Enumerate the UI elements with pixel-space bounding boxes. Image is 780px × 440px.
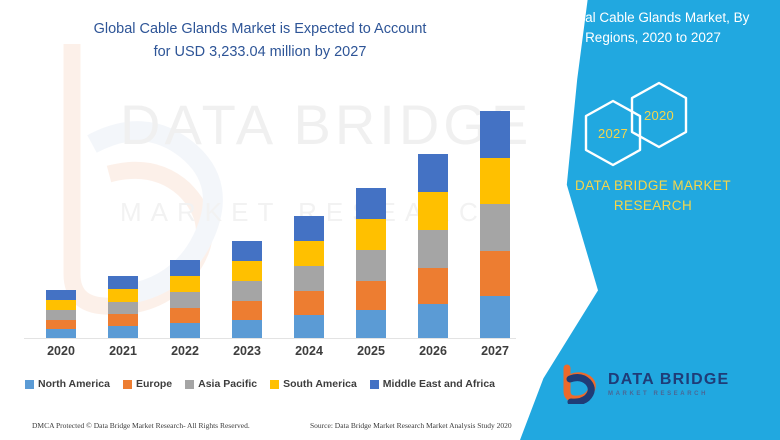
bar-segment-south-america[interactable] [356, 219, 386, 250]
bar-segment-south-america[interactable] [294, 241, 324, 266]
x-axis-labels: 20202021202220232024202520262027 [28, 344, 528, 364]
bar-segment-asia-pacific[interactable] [356, 250, 386, 281]
bar-segment-europe[interactable] [46, 320, 76, 329]
bar-segment-europe[interactable] [480, 251, 510, 296]
bar-group [28, 90, 528, 338]
bar-segment-europe[interactable] [170, 308, 200, 323]
bar-segment-europe[interactable] [232, 301, 262, 320]
bar-segment-asia-pacific[interactable] [46, 310, 76, 320]
legend-swatch-icon [270, 380, 279, 389]
bar-segment-asia-pacific[interactable] [294, 266, 324, 291]
x-axis-label-2024: 2024 [281, 344, 337, 358]
bar-segment-north-america[interactable] [170, 323, 200, 338]
bar-2022[interactable] [170, 260, 200, 338]
bar-segment-south-america[interactable] [108, 289, 138, 302]
hexagon-badge-2027: 2027 [582, 98, 644, 168]
legend-label: Middle East and Africa [383, 378, 495, 390]
bar-segment-asia-pacific[interactable] [480, 204, 510, 251]
bar-segment-europe[interactable] [356, 281, 386, 310]
legend-item-asia-pacific[interactable]: Asia Pacific [185, 378, 257, 390]
logo-text-line1: DATA BRIDGE [608, 372, 729, 388]
panel-title: Global Cable Glands Market, By Regions, … [536, 8, 770, 47]
bar-segment-south-america[interactable] [46, 300, 76, 310]
bar-segment-north-america[interactable] [356, 310, 386, 338]
footer-copyright: DMCA Protected © Data Bridge Market Rese… [32, 421, 250, 430]
bar-segment-middle-east-and-africa[interactable] [46, 290, 76, 300]
bar-segment-north-america[interactable] [232, 320, 262, 338]
bar-2024[interactable] [294, 216, 324, 338]
x-axis-label-2026: 2026 [405, 344, 461, 358]
bar-segment-middle-east-and-africa[interactable] [356, 188, 386, 219]
bar-segment-europe[interactable] [418, 268, 448, 304]
logo-mark-icon [558, 364, 600, 404]
x-axis-label-2027: 2027 [467, 344, 523, 358]
footer-source: Source: Data Bridge Market Research Mark… [310, 421, 512, 430]
x-axis-label-2022: 2022 [157, 344, 213, 358]
x-axis-label-2021: 2021 [95, 344, 151, 358]
logo-text: DATA BRIDGE MARKET RESEARCH [608, 372, 729, 397]
bar-segment-asia-pacific[interactable] [170, 292, 200, 308]
bar-segment-north-america[interactable] [418, 304, 448, 338]
hexagon-badges: 2020 2027 [566, 86, 736, 168]
page-title: Global Cable Glands Market is Expected t… [20, 18, 500, 64]
bar-segment-europe[interactable] [294, 291, 324, 315]
legend-item-north-america[interactable]: North America [25, 378, 110, 390]
bar-segment-middle-east-and-africa[interactable] [170, 260, 200, 276]
axis-baseline [24, 338, 516, 339]
bar-segment-south-america[interactable] [480, 158, 510, 204]
legend-swatch-icon [185, 380, 194, 389]
bar-segment-europe[interactable] [108, 314, 138, 326]
bar-2020[interactable] [46, 290, 76, 338]
legend-label: North America [38, 378, 110, 390]
legend-label: South America [283, 378, 357, 390]
page-title-line2: for USD 3,233.04 million by 2027 [154, 44, 367, 60]
bar-2026[interactable] [418, 154, 448, 338]
x-axis-label-2023: 2023 [219, 344, 275, 358]
bar-segment-asia-pacific[interactable] [232, 281, 262, 301]
bar-segment-south-america[interactable] [418, 192, 448, 230]
logo-text-line2: MARKET RESEARCH [608, 391, 729, 397]
infographic-root: DATA BRIDGE MARKET RESEARCH Global Cable… [0, 0, 780, 440]
legend-label: Europe [136, 378, 172, 390]
panel-title-line2: Regions, 2020 to 2027 [585, 30, 721, 45]
legend-swatch-icon [370, 380, 379, 389]
bar-segment-north-america[interactable] [294, 315, 324, 338]
panel-title-line1: Global Cable Glands Market, By [557, 10, 750, 25]
hexagon-badge-2027-label: 2027 [582, 98, 644, 168]
bar-segment-middle-east-and-africa[interactable] [108, 276, 138, 289]
bar-segment-north-america[interactable] [108, 326, 138, 338]
x-axis-label-2020: 2020 [33, 344, 89, 358]
legend-item-south-america[interactable]: South America [270, 378, 357, 390]
bar-2025[interactable] [356, 188, 386, 338]
legend-item-middle-east-and-africa[interactable]: Middle East and Africa [370, 378, 495, 390]
legend-swatch-icon [123, 380, 132, 389]
chart-area: DATA BRIDGE MARKET RESEARCH Global Cable… [0, 0, 560, 440]
company-logo: DATA BRIDGE MARKET RESEARCH [558, 362, 758, 406]
bar-segment-asia-pacific[interactable] [418, 230, 448, 268]
bar-segment-middle-east-and-africa[interactable] [232, 241, 262, 261]
bar-segment-north-america[interactable] [480, 296, 510, 338]
bar-2021[interactable] [108, 276, 138, 338]
bar-segment-asia-pacific[interactable] [108, 302, 138, 314]
bar-segment-middle-east-and-africa[interactable] [480, 111, 510, 158]
brand-name-line2: RESEARCH [614, 198, 692, 213]
x-axis-label-2025: 2025 [343, 344, 399, 358]
legend-swatch-icon [25, 380, 34, 389]
chart-legend: North AmericaEuropeAsia PacificSouth Ame… [0, 374, 520, 394]
bar-2027[interactable] [480, 111, 510, 338]
brand-name: DATA BRIDGE MARKET RESEARCH [538, 176, 768, 217]
bar-segment-middle-east-and-africa[interactable] [294, 216, 324, 241]
legend-item-europe[interactable]: Europe [123, 378, 172, 390]
brand-name-line1: DATA BRIDGE MARKET [575, 178, 731, 193]
legend-label: Asia Pacific [198, 378, 257, 390]
page-title-line1: Global Cable Glands Market is Expected t… [94, 21, 427, 37]
bar-segment-south-america[interactable] [232, 261, 262, 281]
bar-2023[interactable] [232, 241, 262, 338]
bar-segment-south-america[interactable] [170, 276, 200, 292]
bar-segment-north-america[interactable] [46, 329, 76, 338]
bar-segment-middle-east-and-africa[interactable] [418, 154, 448, 192]
footer: DMCA Protected © Data Bridge Market Rese… [0, 418, 560, 432]
